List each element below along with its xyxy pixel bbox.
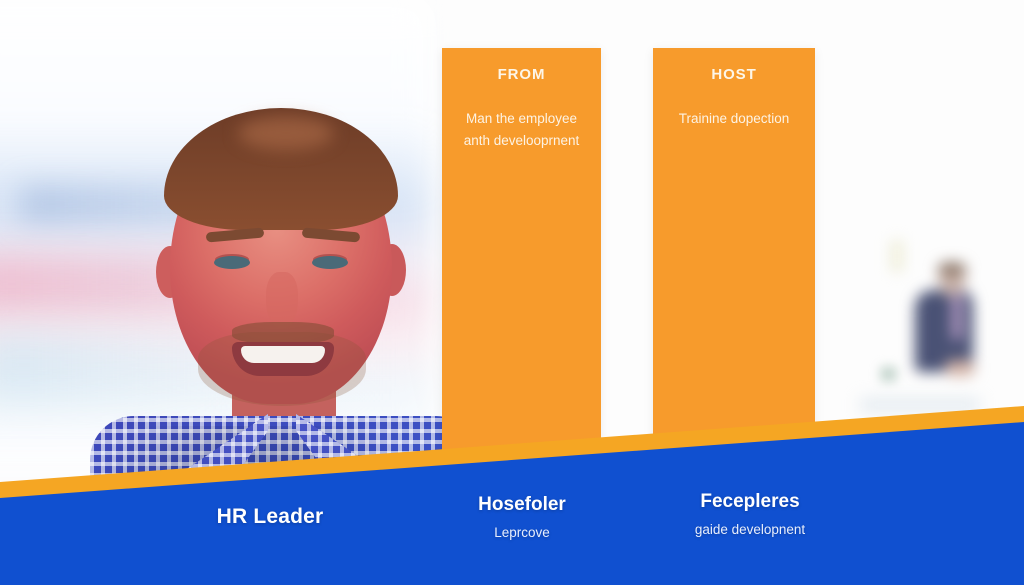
- footer-label-fecepleres-subtitle: gaide developnent: [620, 521, 880, 539]
- footer-label-hosefoler-title: Hosefoler: [406, 494, 638, 517]
- footer-label-hr-leader-title: HR Leader: [150, 504, 390, 529]
- footer-label-fecepleres[interactable]: Fecepleres gaide developnent: [620, 491, 880, 538]
- infographic-canvas: FROM Man the employee anth develooprnent…: [0, 0, 1024, 585]
- footer-label-hosefoler-subtitle: Leprcove: [406, 524, 638, 542]
- footer-label-fecepleres-title: Fecepleres: [620, 491, 880, 514]
- footer-label-hosefoler[interactable]: Hosefoler Leprcove: [406, 494, 638, 541]
- footer-label-hr-leader[interactable]: HR Leader: [150, 504, 390, 529]
- footer-label-group: HR Leader Hosefoler Leprcove Fecepleres …: [0, 484, 1024, 585]
